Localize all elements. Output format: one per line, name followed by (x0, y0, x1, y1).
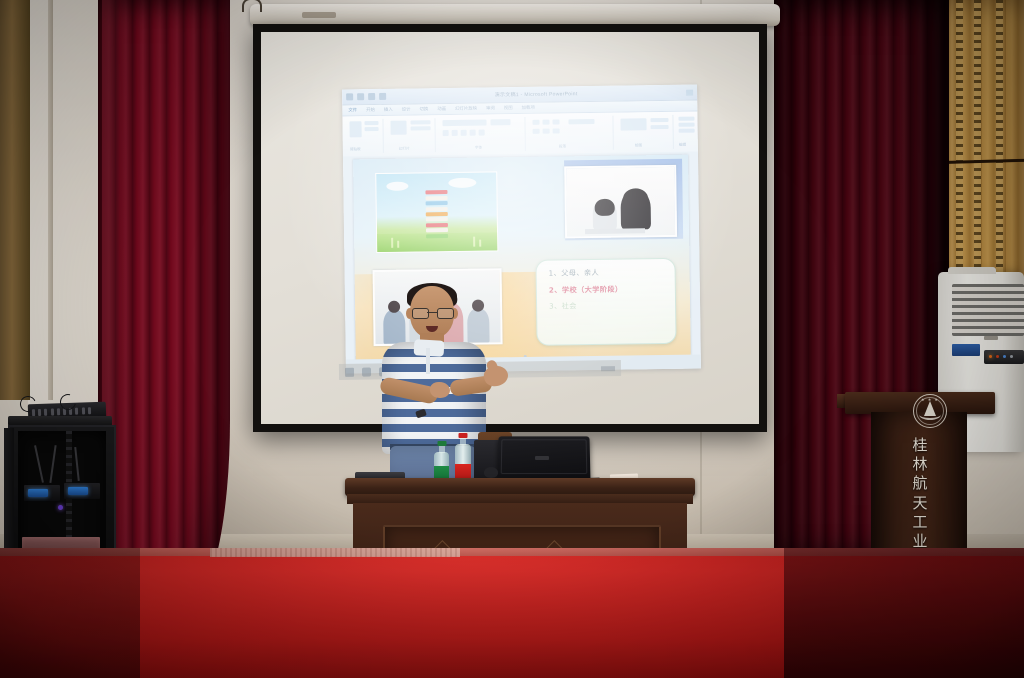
tab-design[interactable]: 设计 (402, 107, 411, 113)
ribbon-group-label: 幻灯片 (399, 147, 410, 152)
copy-icon[interactable] (365, 127, 379, 131)
ribbon-group-label: 绘图 (635, 143, 642, 148)
book-stack (425, 191, 448, 240)
ribbon-group-label: 编辑 (679, 143, 686, 148)
ribbon-group-clipboard: 剪贴板 (346, 119, 383, 154)
children-photo (564, 165, 677, 239)
wireless-receiver-1[interactable] (24, 485, 60, 501)
ribbon-group-label: 字体 (475, 146, 482, 151)
ac-led (1010, 355, 1013, 358)
slide-bullet-1: 1、父母、亲人 (549, 268, 665, 277)
underline-icon[interactable] (461, 130, 467, 136)
presenter-placket (426, 348, 430, 374)
receiver-antenna (49, 445, 56, 483)
ribbon-group-label: 剪贴板 (350, 147, 361, 152)
ac-vents (952, 284, 1024, 336)
paste-icon[interactable] (349, 121, 361, 137)
receiver-antenna (34, 445, 43, 483)
left-door-jamb (0, 0, 30, 400)
shadow-icon[interactable] (479, 130, 485, 136)
ac-label (952, 344, 980, 356)
ribbon-group-slides: 幻灯片 (386, 118, 435, 153)
undo-icon[interactable] (368, 93, 375, 100)
minimize-button[interactable] (686, 89, 693, 95)
ac-led (996, 355, 999, 358)
ac-top-cap (948, 267, 996, 274)
redo-icon[interactable] (379, 93, 386, 100)
office-orb-icon[interactable] (346, 93, 353, 100)
receiver-antenna (74, 447, 79, 481)
podium-char: 林 (905, 455, 935, 474)
shapes-gallery[interactable] (620, 118, 646, 130)
strikethrough-icon[interactable] (470, 130, 476, 136)
font-size-box[interactable] (490, 119, 510, 125)
panel-track (956, 0, 963, 300)
app-title-text: 演示文稿1 - Microsoft PowerPoint (390, 89, 682, 100)
reset-icon[interactable] (411, 126, 431, 130)
emblem-arc (919, 409, 941, 420)
rack-power-led (58, 505, 63, 510)
numbering-icon[interactable] (542, 120, 549, 125)
podium-char: 工 (905, 513, 935, 532)
replace-icon[interactable] (679, 123, 695, 127)
save-icon[interactable] (357, 93, 364, 100)
ac-display-panel[interactable] (984, 350, 1024, 364)
ribbon-group-font: 字体 (438, 117, 525, 152)
tab-transitions[interactable]: 切换 (419, 106, 428, 112)
lecture-hall-scene: 演示文稿1 - Microsoft PowerPoint 文件 开始 插入 设计… (0, 0, 1024, 678)
tab-insert[interactable]: 插入 (384, 107, 393, 113)
tab-home[interactable]: 开始 (366, 107, 375, 113)
shape-outline-icon[interactable] (651, 125, 669, 129)
bottle-neck (460, 437, 466, 445)
ribbon-group-drawing: 绘图 (616, 115, 673, 150)
panel-track (974, 0, 981, 300)
ribbon-group-label: 段落 (559, 144, 566, 149)
select-icon[interactable] (679, 129, 695, 133)
indent-icon[interactable] (552, 119, 559, 124)
tab-file[interactable]: 文件 (348, 107, 357, 113)
tab-view[interactable]: 视图 (504, 105, 513, 111)
receiver-lcd-display (68, 487, 88, 495)
italic-icon[interactable] (452, 130, 458, 136)
curtain-left (98, 0, 230, 600)
cut-icon[interactable] (364, 121, 378, 125)
screen-brand-badge (302, 12, 336, 18)
tab-addins[interactable]: 加载项 (522, 105, 535, 111)
bottle-cap (459, 433, 468, 438)
find-icon[interactable] (678, 117, 694, 121)
start-button[interactable] (345, 367, 354, 376)
ribbon-group-editing: 编辑 (676, 115, 696, 149)
align-left-icon[interactable] (533, 129, 540, 134)
bottle-neck (439, 445, 445, 453)
ac-led (989, 355, 992, 358)
receiver-lcd-display (28, 489, 48, 497)
ac-brand-mark (984, 336, 998, 340)
bullets-icon[interactable] (532, 120, 539, 125)
layout-icon[interactable] (410, 120, 430, 124)
university-emblem: ★ ★ ★ (913, 394, 947, 428)
floor-shadow-left (0, 548, 140, 678)
slide-bullet-card: 1、父母、亲人 2、学校（大学阶段） 3、社会 (535, 258, 676, 346)
align-center-icon[interactable] (543, 129, 550, 134)
podium-char: 天 (905, 494, 935, 513)
child-figure (620, 189, 651, 229)
panel-track (996, 0, 1003, 300)
laptop-logo (535, 456, 549, 460)
font-name-box[interactable] (442, 119, 486, 126)
mixer-knobs[interactable] (32, 407, 91, 416)
podium-char: 航 (905, 474, 935, 493)
podium-char: 桂 (905, 436, 935, 455)
floor-shadow-right (784, 548, 1024, 678)
screen-roller-casing (250, 4, 780, 26)
new-slide-icon[interactable] (390, 121, 406, 135)
presenter-hand-left (430, 382, 450, 398)
bold-icon[interactable] (443, 130, 449, 136)
shape-fill-icon[interactable] (650, 118, 668, 122)
slide-bullet-3: 3、社会 (549, 301, 665, 310)
ribbon-group-paragraph: 段落 (528, 116, 613, 151)
system-tray[interactable] (601, 366, 615, 371)
tab-animations[interactable]: 动画 (437, 106, 446, 112)
line-spacing-icon[interactable] (568, 119, 594, 124)
wireless-receiver-2[interactable] (64, 483, 100, 499)
slide-bullet-2: 2、学校（大学阶段） (549, 285, 665, 294)
align-right-icon[interactable] (553, 128, 560, 133)
bottle-cap (437, 441, 446, 446)
ac-led (1003, 355, 1006, 358)
presenter-glasses (412, 308, 452, 317)
wall-pipe (48, 0, 53, 400)
books-illustration (375, 171, 498, 253)
laptop[interactable] (497, 436, 590, 482)
tab-review[interactable]: 审阅 (486, 105, 495, 111)
screen-hook (242, 0, 262, 12)
tab-slideshow[interactable]: 幻灯片放映 (455, 106, 477, 112)
child-figure (593, 200, 617, 230)
